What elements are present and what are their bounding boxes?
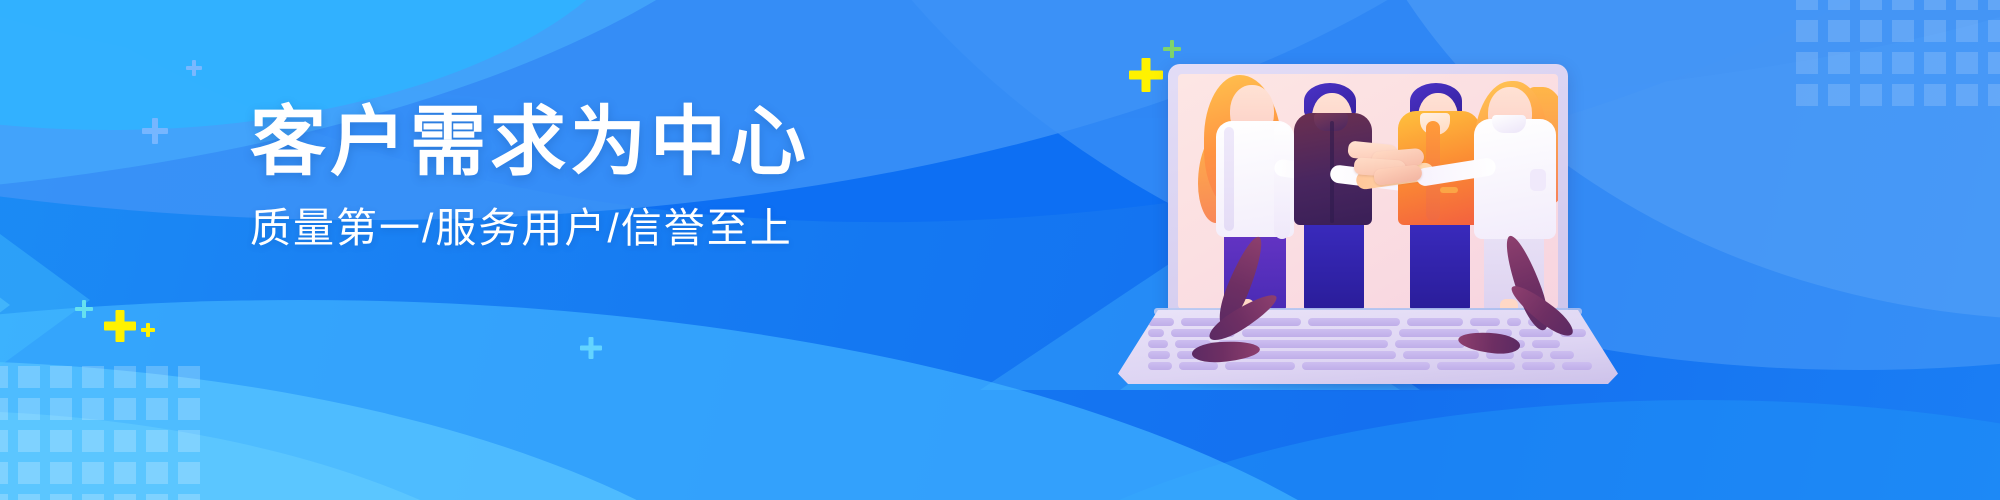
grid-dot [146, 430, 168, 452]
grid-dot [1860, 20, 1882, 42]
keyboard-key [1519, 329, 1553, 337]
leaf-cluster-left [1142, 234, 1262, 326]
promo-banner: 客户需求为中心 质量第一/服务用户/信誉至上 [0, 0, 2000, 500]
yellow-plus-bottom-icon [104, 310, 136, 342]
grid-dot [0, 430, 8, 452]
grid-dot [18, 494, 40, 500]
grid-dot [1796, 20, 1818, 42]
grid-dot [50, 430, 72, 452]
white-plus-upper-icon [142, 118, 168, 144]
cuff [1530, 169, 1546, 191]
keyboard-key [1302, 362, 1431, 370]
keyboard-key [1179, 362, 1219, 370]
grid-dot [18, 366, 40, 388]
grid-dot [82, 366, 104, 388]
grid-dot [1892, 20, 1914, 42]
keyboard-key [1225, 362, 1294, 370]
grid-dot [18, 398, 40, 420]
grid-dot [0, 494, 8, 500]
lapel-left [1224, 127, 1234, 231]
grid-dot [82, 398, 104, 420]
grid-dot [1988, 20, 2000, 42]
grid-dot [178, 398, 200, 420]
banner-copy: 客户需求为中心 质量第一/服务用户/信誉至上 [250, 104, 870, 251]
grid-dot [50, 462, 72, 484]
collar [1492, 115, 1526, 133]
keyboard-key [1395, 340, 1465, 348]
grid-dot [1892, 84, 1914, 106]
grid-dot [114, 366, 136, 388]
grid-dot [82, 462, 104, 484]
keyboard-key [1550, 351, 1574, 359]
cyan-plus-bottom-icon [75, 300, 93, 318]
keyboard-key [1148, 362, 1172, 370]
grid-dot [50, 494, 72, 500]
grid-dot [1828, 20, 1850, 42]
pocket [1440, 187, 1458, 193]
grid-dot [1956, 84, 1978, 106]
grid-dot [50, 398, 72, 420]
grid-dot [18, 430, 40, 452]
grid-dot [18, 462, 40, 484]
grid-dot [1924, 0, 1946, 10]
grid-dot [1988, 84, 2000, 106]
grid-dot [1860, 52, 1882, 74]
laptop-illustration [1110, 38, 1630, 468]
grid-dot [1988, 0, 2000, 10]
keyboard-key [1148, 340, 1168, 348]
grid-dot [1828, 0, 1850, 10]
dot-grid-top-right [1796, 0, 2000, 106]
page-title: 客户需求为中心 [250, 104, 870, 180]
grid-dot [1924, 84, 1946, 106]
keyboard-key [1470, 318, 1500, 326]
grid-dot [178, 366, 200, 388]
grid-dot [146, 366, 168, 388]
grid-dot [82, 494, 104, 500]
grid-dot [1956, 0, 1978, 10]
yellow-plus-tiny-icon [141, 323, 155, 337]
grid-dot [1828, 84, 1850, 106]
dot-grid-bottom-left [0, 366, 200, 500]
grid-dot [1796, 0, 1818, 10]
grid-dot [82, 430, 104, 452]
grid-dot [1924, 52, 1946, 74]
grid-dot [50, 366, 72, 388]
grid-dot [1956, 52, 1978, 74]
banner-subtitle: 质量第一/服务用户/信誉至上 [250, 206, 870, 251]
grid-dot [1956, 20, 1978, 42]
grid-dot [178, 430, 200, 452]
keyboard-key [1403, 351, 1479, 359]
grid-dot [1892, 0, 1914, 10]
keyboard-row [1148, 362, 1592, 370]
white-plus-top-icon [186, 60, 202, 76]
keyboard-key [1148, 351, 1170, 359]
grid-dot [114, 398, 136, 420]
stacked-hands [1346, 141, 1434, 187]
keyboard-key [1437, 362, 1514, 370]
grid-dot [146, 494, 168, 500]
keyboard-key [1308, 318, 1400, 326]
grid-dot [0, 398, 8, 420]
keyboard-key [1532, 340, 1560, 348]
keyboard-key [1242, 329, 1392, 337]
grid-dot [1860, 84, 1882, 106]
keyboard-key [1521, 351, 1543, 359]
keyboard-key [1148, 329, 1164, 337]
lapel-right [1274, 123, 1290, 239]
grid-dot [1796, 52, 1818, 74]
grid-dot [178, 494, 200, 500]
grid-dot [146, 462, 168, 484]
grid-dot [114, 430, 136, 452]
grid-dot [114, 494, 136, 500]
grid-dot [0, 462, 8, 484]
grid-dot [1924, 20, 1946, 42]
grid-dot [178, 462, 200, 484]
cyan-plus-lower-icon [580, 337, 602, 359]
grid-dot [1892, 52, 1914, 74]
grid-dot [146, 398, 168, 420]
grid-dot [0, 366, 8, 388]
grid-dot [1988, 52, 2000, 74]
grid-dot [1828, 52, 1850, 74]
keyboard-key [1522, 362, 1556, 370]
keyboard-key [1407, 318, 1463, 326]
keyboard-key [1236, 351, 1396, 359]
keyboard-key [1562, 362, 1592, 370]
grid-dot [114, 462, 136, 484]
grid-dot [1796, 84, 1818, 106]
grid-dot [1860, 0, 1882, 10]
leaf-cluster-right [1506, 230, 1626, 326]
